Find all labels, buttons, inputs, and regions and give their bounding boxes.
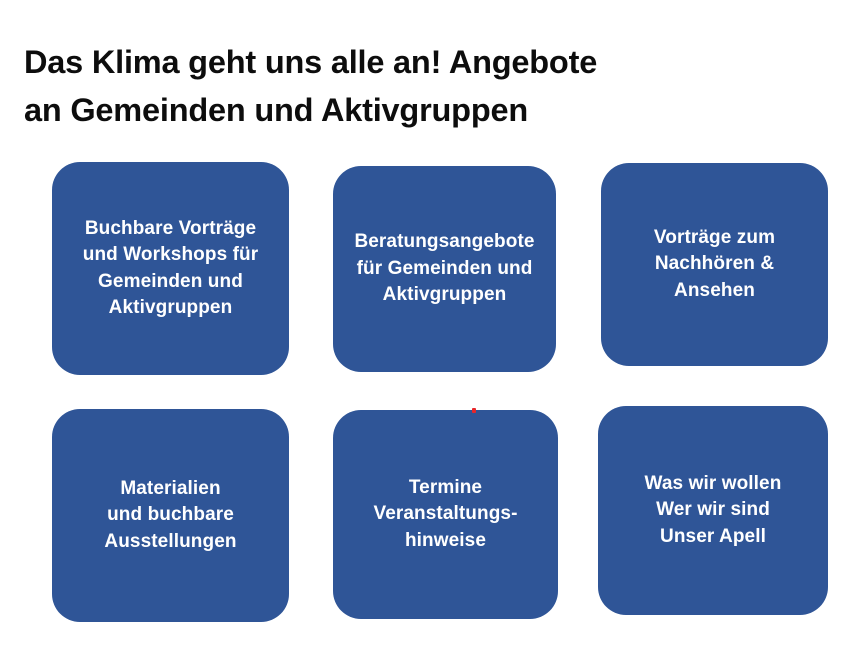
card-label: Vorträge zum Nachhören & Ansehen bbox=[654, 225, 775, 305]
card-label: Was wir wollen Wer wir sind Unser Apell bbox=[645, 471, 782, 551]
red-marker-dot-icon bbox=[472, 408, 476, 413]
card-label: Beratungsangebote für Gemeinden und Akti… bbox=[354, 229, 534, 309]
card-materialien-ausstellungen[interactable]: Materialien und buchbare Ausstellungen bbox=[52, 409, 289, 622]
card-label: Materialien und buchbare Ausstellungen bbox=[104, 476, 236, 556]
card-vortraege-nachhoeren-ansehen[interactable]: Vorträge zum Nachhören & Ansehen bbox=[601, 163, 828, 366]
card-buchbare-vortraege-workshops[interactable]: Buchbare Vorträge und Workshops für Geme… bbox=[52, 162, 289, 375]
card-was-wir-wollen[interactable]: Was wir wollen Wer wir sind Unser Apell bbox=[598, 406, 828, 615]
card-beratungsangebote[interactable]: Beratungsangebote für Gemeinden und Akti… bbox=[333, 166, 556, 372]
offer-card-grid: Buchbare Vorträge und Workshops für Geme… bbox=[0, 0, 854, 648]
card-label: Termine Veranstaltungs- hinweise bbox=[373, 475, 517, 555]
slide-canvas: Das Klima geht uns alle an! Angebote an … bbox=[0, 0, 854, 648]
card-label: Buchbare Vorträge und Workshops für Geme… bbox=[83, 216, 259, 322]
card-termine-veranstaltungshinweise[interactable]: Termine Veranstaltungs- hinweise bbox=[333, 410, 558, 619]
